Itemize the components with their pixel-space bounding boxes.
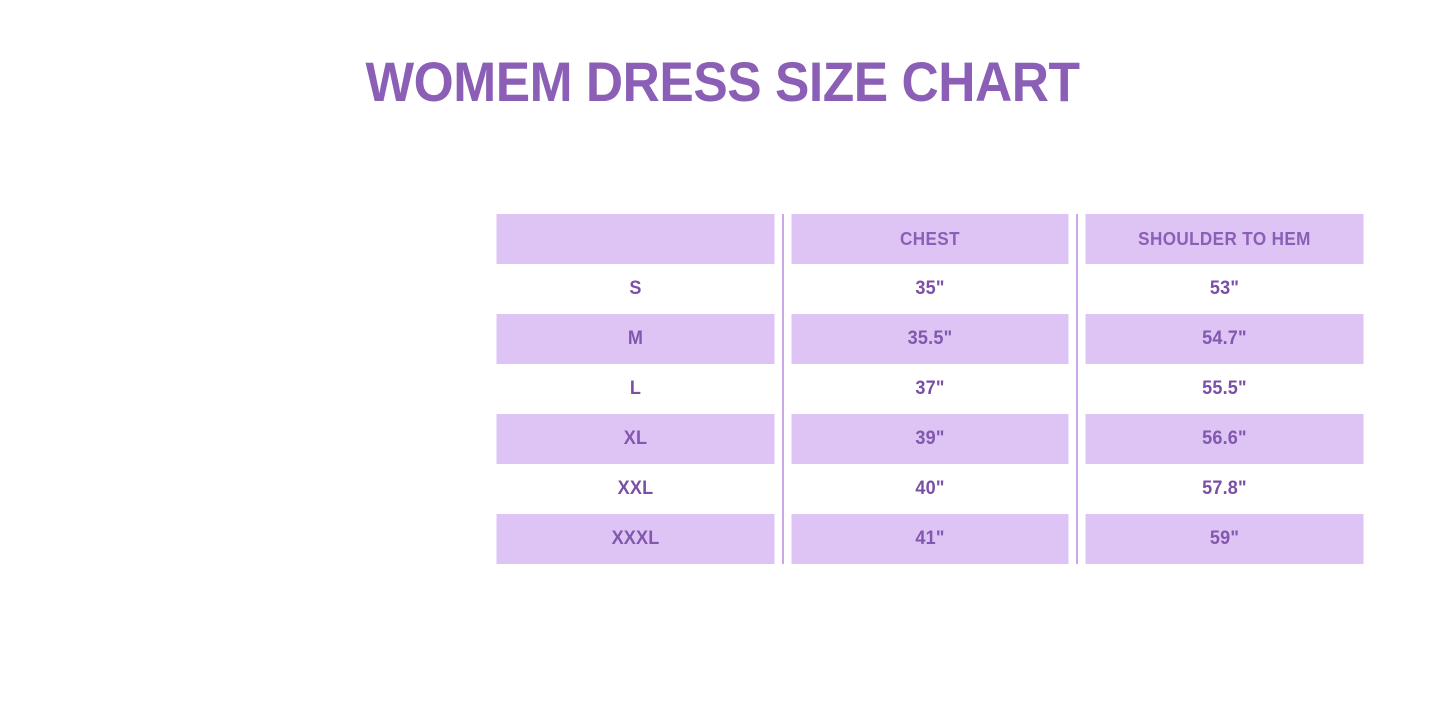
cell-size: S — [496, 264, 775, 314]
cell-size: M — [496, 314, 775, 364]
cell-chest: 37" — [790, 364, 1069, 414]
table-body: S 35" 53" M 35.5" 54.7" L 37" 55.5" XL 3… — [489, 264, 1371, 564]
size-chart-page: WOMEM DRESS SIZE CHART CHEST SHOULDER TO… — [0, 0, 1445, 723]
cell-size: XXXL — [496, 514, 775, 564]
column-header-size — [496, 214, 775, 264]
page-title: WOMEM DRESS SIZE CHART — [58, 54, 1387, 110]
table-row: XL 39" 56.6" — [489, 414, 1371, 464]
cell-shoulder-to-hem: 57.8" — [1084, 464, 1363, 514]
cell-shoulder-to-hem: 59" — [1084, 514, 1363, 564]
table-row: XXL 40" 57.8" — [489, 464, 1371, 514]
table-row: L 37" 55.5" — [489, 364, 1371, 414]
cell-shoulder-to-hem: 53" — [1084, 264, 1363, 314]
column-header-shoulder-to-hem: SHOULDER TO HEM — [1084, 214, 1363, 264]
cell-chest: 40" — [790, 464, 1069, 514]
cell-chest: 35" — [790, 264, 1069, 314]
column-header-chest: CHEST — [790, 214, 1069, 264]
cell-shoulder-to-hem: 56.6" — [1084, 414, 1363, 464]
cell-chest: 39" — [790, 414, 1069, 464]
cell-size: XL — [496, 414, 775, 464]
cell-size: XXL — [496, 464, 775, 514]
table-row: M 35.5" 54.7" — [489, 314, 1371, 364]
table-row: S 35" 53" — [489, 264, 1371, 314]
table-header: CHEST SHOULDER TO HEM — [489, 214, 1371, 264]
table-header-row: CHEST SHOULDER TO HEM — [489, 214, 1371, 264]
size-chart-table-container: CHEST SHOULDER TO HEM S 35" 53" M 35.5" … — [489, 214, 1371, 564]
cell-shoulder-to-hem: 54.7" — [1084, 314, 1363, 364]
size-chart-table: CHEST SHOULDER TO HEM S 35" 53" M 35.5" … — [489, 214, 1371, 564]
table-row: XXXL 41" 59" — [489, 514, 1371, 564]
cell-chest: 41" — [790, 514, 1069, 564]
cell-chest: 35.5" — [790, 314, 1069, 364]
cell-size: L — [496, 364, 775, 414]
cell-shoulder-to-hem: 55.5" — [1084, 364, 1363, 414]
